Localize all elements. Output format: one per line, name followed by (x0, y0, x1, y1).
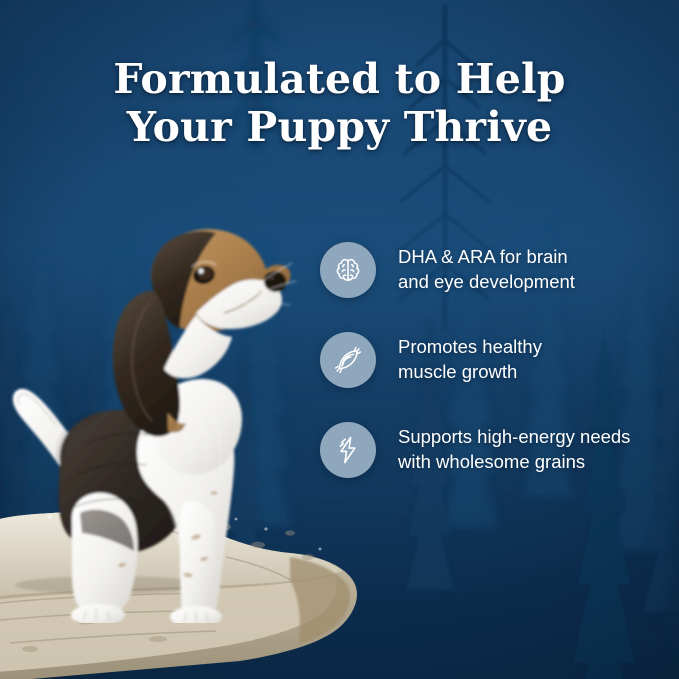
feature-line-2: and eye development (398, 271, 575, 292)
feature-item-dha-ara: DHA & ARA for brain and eye development (320, 225, 668, 315)
brain-icon (320, 242, 376, 298)
beagle-puppy-photo (0, 163, 300, 623)
feature-item-muscle: Promotes healthy muscle growth (320, 315, 668, 405)
feature-line-1: DHA & ARA for brain (398, 246, 568, 267)
feature-line-1: Promotes healthy (398, 336, 542, 357)
feature-line-1: Supports high-energy needs (398, 426, 630, 447)
muscle-icon (320, 332, 376, 388)
feature-item-text: DHA & ARA for brain and eye development (398, 245, 575, 294)
promo-banner: Formulated to Help Your Puppy Thrive DHA… (0, 0, 679, 679)
feature-item-text: Promotes healthy muscle growth (398, 335, 542, 384)
feature-line-2: muscle growth (398, 361, 517, 382)
